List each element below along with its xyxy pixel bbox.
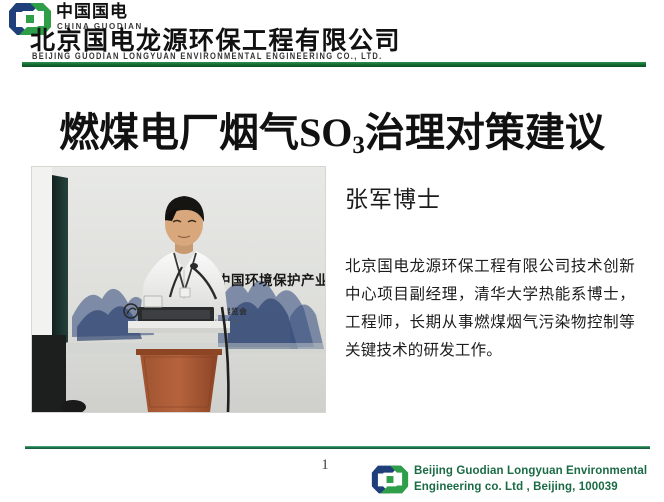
company-name-en: BEIJING GUODIAN LONGYUAN ENVIRONMENTAL E… <box>32 50 383 61</box>
footer-company-address: Beijing Guodian Longyuan Environmental E… <box>414 463 647 495</box>
speaker-photo: 中国环境保护产业协会 第十五届中国国际环保展览会 THE 15TH CHINA … <box>32 167 325 412</box>
footer-divider <box>25 446 650 449</box>
title-formula-so: SO <box>299 110 352 155</box>
speaker-name: 张军博士 <box>345 180 441 214</box>
title-formula-subscript: 3 <box>352 132 365 159</box>
slide-header: 中国国电 CHINA GUODIAN 北京国电龙源环保工程有限公司 BEIJIN… <box>0 0 664 72</box>
brand-name-cn-short: 中国国电 <box>56 2 128 21</box>
slide-title: 燃煤电厂烟气SO3治理对策建议 <box>0 109 664 170</box>
title-text-part1: 燃煤电厂烟气 <box>59 111 299 155</box>
title-text-part2: 治理对策建议 <box>365 111 605 155</box>
footer-company-line-1: Beijing Guodian Longyuan Environmental <box>414 463 647 479</box>
page-number: 1 <box>310 457 340 474</box>
svg-text:中国环境保护产业协会: 中国环境保护产业协会 <box>217 272 325 288</box>
header-divider <box>22 62 646 67</box>
guodian-interlocking-logo-icon-footer <box>371 464 409 495</box>
speaker-bio: 北京国电龙源环保工程有限公司技术创新中心项目副经理，清华大学热能系博士，工程师，… <box>345 253 635 365</box>
footer-company-line-2: Engineering co. Ltd , Beijing, 100039 <box>414 479 647 495</box>
